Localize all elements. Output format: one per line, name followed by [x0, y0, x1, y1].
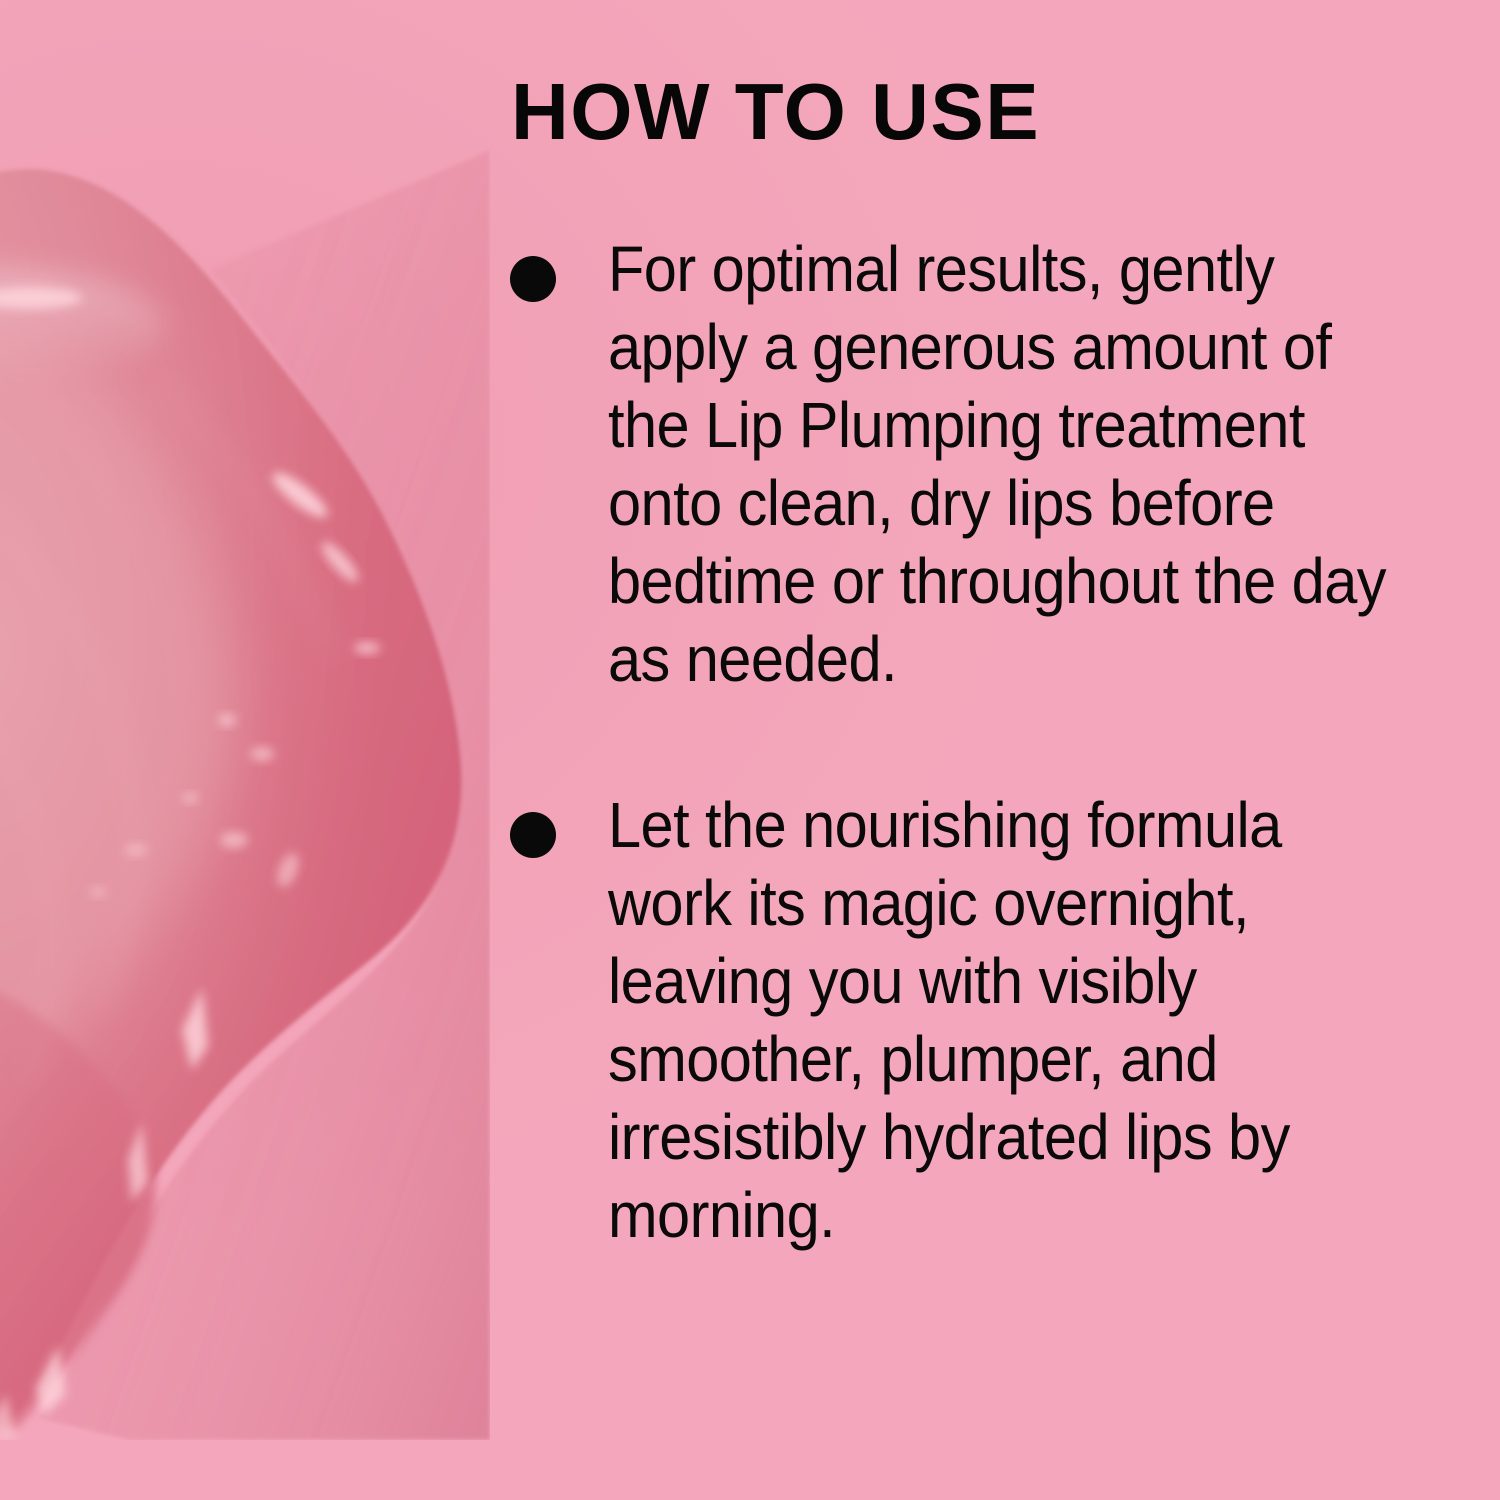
bullet-point-icon	[510, 812, 556, 858]
instruction-text: Let the nourishing formula work its magi…	[608, 786, 1405, 1254]
list-item: Let the nourishing formula work its magi…	[505, 786, 1405, 1254]
product-info-card: HOW TO USE For optimal results, gently a…	[0, 0, 1500, 1500]
instruction-text: For optimal results, gently apply a gene…	[608, 230, 1405, 698]
page-title: HOW TO USE	[511, 72, 1405, 152]
list-item: For optimal results, gently apply a gene…	[505, 230, 1405, 698]
instruction-list: For optimal results, gently apply a gene…	[505, 230, 1405, 1254]
bullet-point-icon	[510, 256, 556, 302]
instructions-panel: HOW TO USE For optimal results, gently a…	[505, 72, 1405, 1254]
